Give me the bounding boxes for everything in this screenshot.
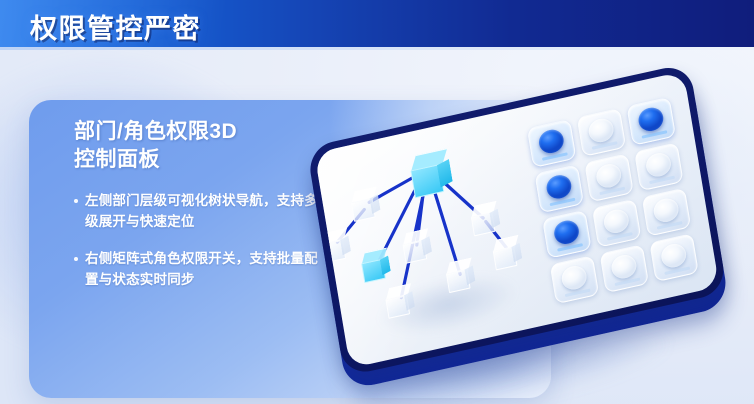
- tree-node-root[interactable]: [408, 148, 454, 196]
- switch-glow: [657, 221, 683, 230]
- tablet-bezel: [306, 63, 727, 377]
- list-item: 右侧矩阵式角色权限开关，支持批量配置与状态实时同步: [74, 249, 329, 291]
- tablet-screen: [314, 71, 719, 368]
- permission-switch-r3c3[interactable]: [642, 188, 692, 237]
- switch-glow: [557, 243, 583, 252]
- tree-node[interactable]: [401, 228, 433, 262]
- bullet-text: 右侧矩阵式角色权限开关，支持批量配置与状态实时同步: [85, 249, 329, 291]
- permission-switch-r1c2[interactable]: [577, 108, 627, 157]
- switch-glow: [615, 277, 641, 286]
- role-permission-switch-matrix: [527, 97, 699, 304]
- switch-cap: [652, 196, 680, 224]
- switch-glow: [592, 141, 618, 150]
- switch-cap: [644, 151, 672, 179]
- switch-glow: [599, 187, 625, 196]
- tree-node[interactable]: [491, 235, 523, 269]
- switch-glow: [642, 130, 668, 139]
- tree-node[interactable]: [444, 257, 476, 291]
- switch-glow: [607, 232, 633, 241]
- bullet-dot-icon: [74, 199, 78, 203]
- permission-switch-r1c3[interactable]: [626, 97, 676, 146]
- feature-bullet-list: 左侧部门层级可视化树状导航，支持多级展开与快速定位 右侧矩阵式角色权限开关，支持…: [74, 191, 329, 291]
- tree-node-selected[interactable]: [360, 248, 392, 282]
- page-title: 权限管控严密: [30, 7, 201, 46]
- switch-cap: [545, 173, 573, 201]
- permission-switch-r2c3[interactable]: [634, 142, 684, 191]
- tree-node[interactable]: [384, 283, 416, 317]
- switch-cap: [552, 218, 580, 246]
- permission-switch-r2c1[interactable]: [534, 164, 584, 213]
- switch-glow: [565, 289, 591, 298]
- tree-node[interactable]: [469, 201, 501, 235]
- switch-glow: [542, 152, 568, 161]
- switch-cap: [537, 127, 565, 155]
- switch-cap: [587, 116, 615, 144]
- permission-switch-r1c1[interactable]: [527, 119, 577, 168]
- title-bar: 权限管控严密: [0, 0, 754, 47]
- department-hierarchy-tree: [314, 108, 555, 369]
- tablet-device: [278, 25, 754, 404]
- switch-cap: [602, 207, 630, 235]
- tree-connector-lines: [314, 108, 555, 369]
- switch-glow: [550, 198, 576, 207]
- tree-node[interactable]: [320, 228, 352, 262]
- switch-cap: [637, 105, 665, 133]
- permission-switch-r3c2[interactable]: [592, 199, 642, 248]
- switch-cap: [610, 253, 638, 281]
- switch-glow: [649, 176, 675, 185]
- switch-cap: [660, 242, 688, 270]
- permission-switch-r2c2[interactable]: [584, 153, 634, 202]
- tree-node[interactable]: [349, 186, 381, 220]
- switch-cap: [560, 264, 588, 292]
- permission-switch-r3c1[interactable]: [542, 210, 592, 259]
- switch-cap: [595, 162, 623, 190]
- illustration-3d-permission-tablet: [300, 72, 754, 404]
- switch-glow: [664, 266, 690, 275]
- bullet-dot-icon: [74, 257, 78, 261]
- slide-canvas: 权限管控严密 部门/角色权限3D 控制面板 左侧部门层级可视化树状导航，支持多级…: [0, 0, 754, 404]
